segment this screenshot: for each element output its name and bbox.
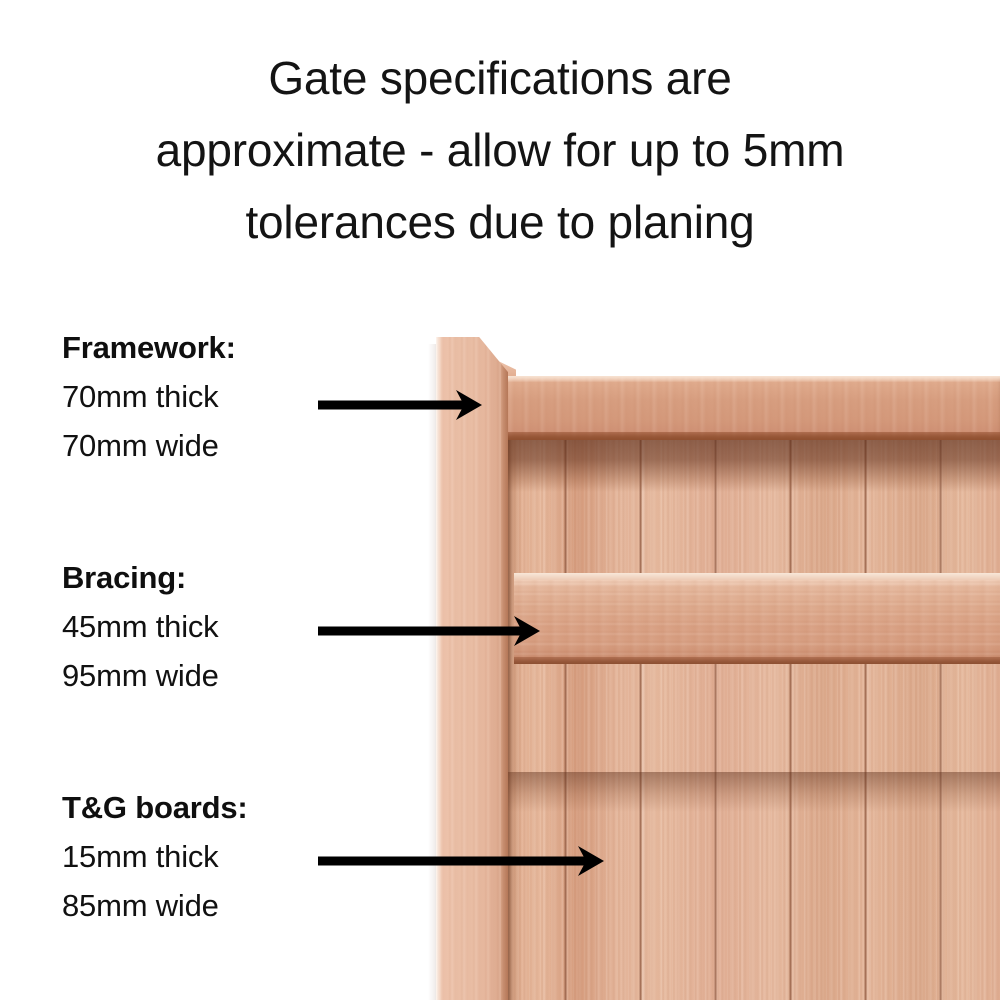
top-rail-highlight [488, 376, 1000, 382]
page-title: Gate specifications are approximate - al… [0, 42, 1000, 259]
callout-framework-width: 70mm wide [62, 430, 362, 461]
top-rail [488, 376, 1000, 440]
top-rail-cast-shadow [496, 438, 1000, 492]
callout-tg-boards-title: T&G boards: [62, 792, 362, 823]
callout-tg-boards: T&G boards: 15mm thick 85mm wide [62, 792, 362, 921]
callout-tg-boards-width: 85mm wide [62, 890, 362, 921]
callout-bracing: Bracing: 45mm thick 95mm wide [62, 562, 362, 691]
gate-illustration [428, 330, 1000, 1000]
callout-bracing-width: 95mm wide [62, 660, 362, 691]
stile-shadow-edge [501, 337, 508, 1000]
callout-framework-thickness: 70mm thick [62, 381, 362, 412]
left-stile [436, 337, 508, 1000]
callout-framework-title: Framework: [62, 332, 362, 363]
callout-framework: Framework: 70mm thick 70mm wide [62, 332, 362, 461]
tongue-and-groove-boards [496, 438, 1000, 1000]
stile-board-seam [508, 438, 513, 1000]
stile-highlight [436, 337, 441, 1000]
top-rail-shadow-edge [488, 432, 1000, 440]
brace-rail-shadow-edge [514, 657, 1000, 664]
board-grain-texture [496, 438, 1000, 1000]
brace-rail-highlight [514, 573, 1000, 580]
callout-bracing-thickness: 45mm thick [62, 611, 362, 642]
brace-rail [514, 580, 1000, 664]
gate-specification-diagram: Gate specifications are approximate - al… [0, 0, 1000, 1000]
callout-tg-boards-thickness: 15mm thick [62, 841, 362, 872]
callout-bracing-title: Bracing: [62, 562, 362, 593]
brace-rail-cast-shadow [496, 772, 1000, 812]
